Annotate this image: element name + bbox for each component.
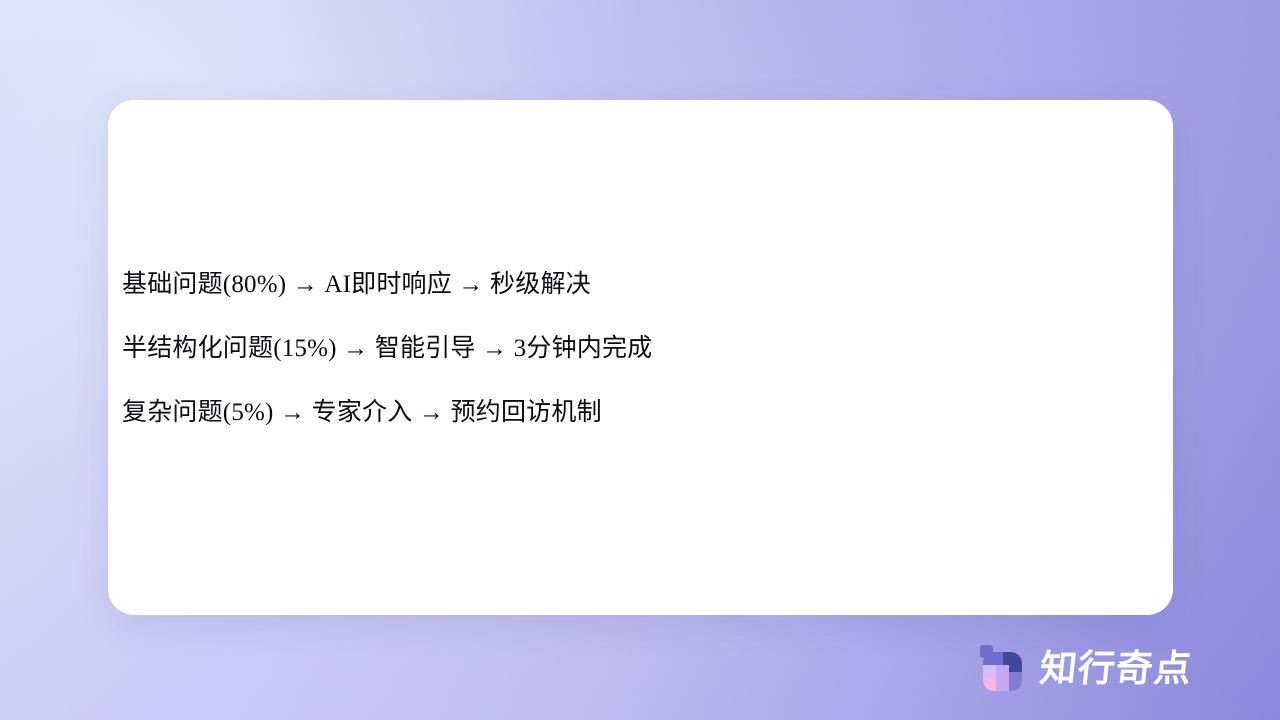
logo-cell-bottom-left xyxy=(983,672,1003,692)
logo-cell-top-left xyxy=(983,652,1003,672)
flow-line-semi-structured: 半结构化问题(15%) → 智能引导 → 3分钟内完成 xyxy=(122,336,1143,361)
content-card: 基础问题(80%) → AI即时响应 → 秒级解决 半结构化问题(15%) → … xyxy=(108,100,1173,615)
flow-line-complex: 复杂问题(5%) → 专家介入 → 预约回访机制 xyxy=(122,400,1143,425)
brand-name: 知行奇点 xyxy=(1038,650,1194,687)
logo-checker-icon xyxy=(980,645,1026,691)
flow-line-list: 基础问题(80%) → AI即时响应 → 秒级解决 半结构化问题(15%) → … xyxy=(122,272,1143,425)
flow-line-basic: 基础问题(80%) → AI即时响应 → 秒级解决 xyxy=(122,272,1143,297)
brand-logo: 知行奇点 xyxy=(980,645,1192,691)
slide-canvas: 基础问题(80%) → AI即时响应 → 秒级解决 半结构化问题(15%) → … xyxy=(0,0,1280,720)
logo-cell-top-right xyxy=(1003,652,1023,672)
logo-cell-bottom-right xyxy=(1003,672,1023,692)
logo-grid xyxy=(983,652,1022,691)
